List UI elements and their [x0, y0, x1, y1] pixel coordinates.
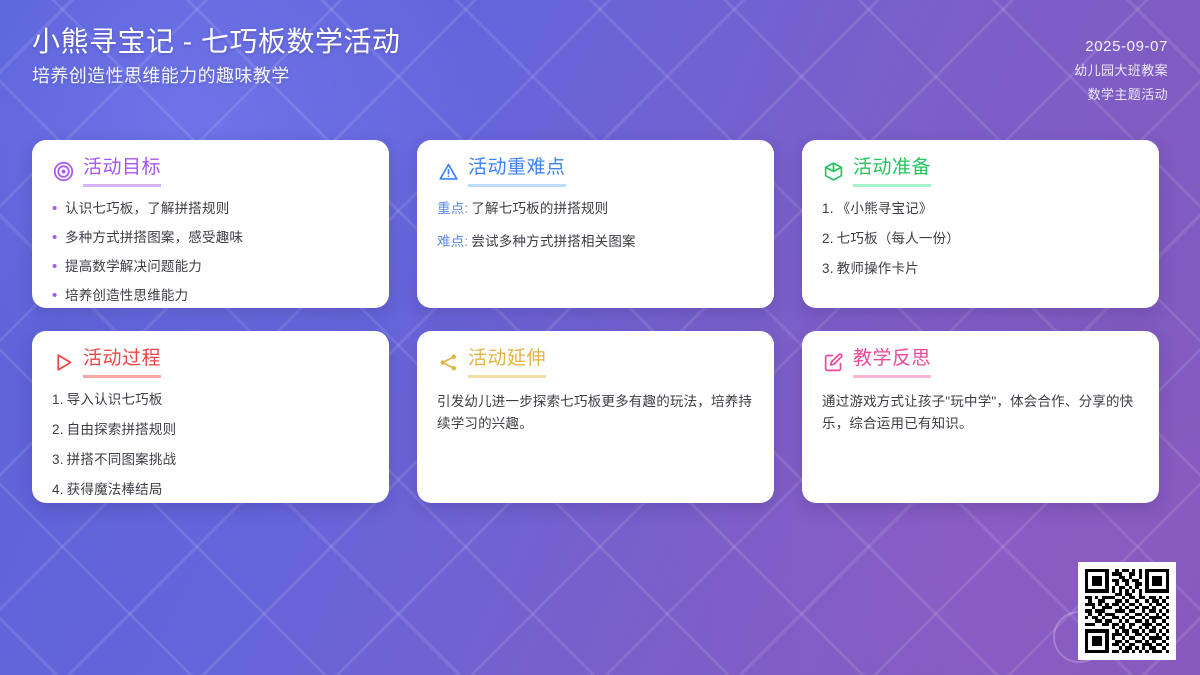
card-title: 活动延伸: [468, 348, 546, 378]
preparation-numbered-list: 1.《小熊寻宝记》 2.七巧板（每人一份） 3.教师操作卡片: [822, 200, 1139, 279]
card-activity-process: 活动过程 1.导入认识七巧板 2.自由探索拼搭规则 3.拼搭不同图案挑战 4.获…: [32, 331, 389, 503]
keypoint-label: 难点:: [437, 234, 468, 249]
item-text: 拼搭不同图案挑战: [67, 452, 177, 467]
item-number: 1.: [822, 201, 834, 216]
card-title: 活动目标: [83, 157, 161, 187]
card-header: 活动延伸: [437, 348, 754, 378]
card-title: 活动准备: [853, 157, 931, 187]
card-activity-goals: 活动目标 认识七巧板，了解拼搭规则 多种方式拼搭图案，感受趣味 提高数学解决问题…: [32, 140, 389, 308]
card-title: 活动过程: [83, 348, 161, 378]
keypoint-value: 了解七巧板的拼搭规则: [471, 201, 608, 216]
header-meta: 2025-09-07 幼儿园大班教案 数学主题活动: [1074, 26, 1168, 103]
target-icon: [52, 161, 74, 183]
keypoint-label: 重点:: [437, 201, 468, 216]
card-header: 活动过程: [52, 348, 369, 378]
edit-square-icon: [822, 352, 844, 374]
header-meta-line2: 数学主题活动: [1088, 84, 1168, 103]
card-teaching-reflection: 教学反思 通过游戏方式让孩子"玩中学"，体会合作、分享的快乐，综合运用已有知识。: [802, 331, 1159, 503]
card-header: 教学反思: [822, 348, 1139, 378]
goals-bullet-list: 认识七巧板，了解拼搭规则 多种方式拼搭图案，感受趣味 提高数学解决问题能力 培养…: [52, 200, 369, 306]
list-item: 3.教师操作卡片: [822, 260, 1139, 278]
item-text: 导入认识七巧板: [67, 392, 163, 407]
process-numbered-list: 1.导入认识七巧板 2.自由探索拼搭规则 3.拼搭不同图案挑战 4.获得魔法棒结…: [52, 391, 369, 500]
card-header: 活动目标: [52, 157, 369, 187]
card-header: 活动准备: [822, 157, 1139, 187]
item-text: 七巧板（每人一份）: [837, 231, 960, 246]
qr-code-matrix: [1085, 569, 1169, 653]
card-key-difficulties: 活动重难点 重点:了解七巧板的拼搭规则 难点:尝试多种方式拼搭相关图案: [417, 140, 774, 308]
list-item: 2.自由探索拼搭规则: [52, 421, 369, 439]
item-text: 《小熊寻宝记》: [837, 201, 933, 216]
item-text: 教师操作卡片: [837, 261, 919, 276]
item-number: 2.: [52, 422, 64, 437]
play-triangle-icon: [52, 352, 74, 374]
list-item: 培养创造性思维能力: [52, 287, 369, 305]
list-item: 多种方式拼搭图案，感受趣味: [52, 229, 369, 247]
item-number: 3.: [52, 452, 64, 467]
item-number: 1.: [52, 392, 64, 407]
header-date: 2025-09-07: [1085, 38, 1168, 55]
page-title: 小熊寻宝记 - 七巧板数学活动: [32, 26, 400, 57]
qr-code-icon[interactable]: [1078, 562, 1176, 660]
list-item: 4.获得魔法棒结局: [52, 481, 369, 499]
card-header: 活动重难点: [437, 157, 754, 187]
card-grid: 活动目标 认识七巧板，了解拼搭规则 多种方式拼搭图案，感受趣味 提高数学解决问题…: [32, 140, 1168, 503]
item-number: 4.: [52, 482, 64, 497]
list-item: 2.七巧板（每人一份）: [822, 230, 1139, 248]
page-subtitle: 培养创造性思维能力的趣味教学: [32, 66, 400, 88]
keypoint-value: 尝试多种方式拼搭相关图案: [471, 234, 635, 249]
list-item: 认识七巧板，了解拼搭规则: [52, 200, 369, 218]
list-item: 提高数学解决问题能力: [52, 258, 369, 276]
list-item: 1.《小熊寻宝记》: [822, 200, 1139, 218]
extension-text: 引发幼儿进一步探索七巧板更多有趣的玩法，培养持续学习的兴趣。: [437, 391, 754, 435]
keypoint-row-zhongdian: 重点:了解七巧板的拼搭规则: [437, 200, 754, 218]
keypoint-row-nandian: 难点:尝试多种方式拼搭相关图案: [437, 233, 754, 251]
share-nodes-icon: [437, 352, 459, 374]
card-preparation: 活动准备 1.《小熊寻宝记》 2.七巧板（每人一份） 3.教师操作卡片: [802, 140, 1159, 308]
list-item: 1.导入认识七巧板: [52, 391, 369, 409]
item-text: 获得魔法棒结局: [67, 482, 163, 497]
item-number: 3.: [822, 261, 834, 276]
header-titles: 小熊寻宝记 - 七巧板数学活动 培养创造性思维能力的趣味教学: [32, 26, 400, 88]
header-meta-line1: 幼儿园大班教案: [1074, 60, 1168, 79]
box-icon: [822, 161, 844, 183]
card-activity-extension: 活动延伸 引发幼儿进一步探索七巧板更多有趣的玩法，培养持续学习的兴趣。: [417, 331, 774, 503]
item-text: 自由探索拼搭规则: [67, 422, 177, 437]
page-header: 小熊寻宝记 - 七巧板数学活动 培养创造性思维能力的趣味教学 2025-09-0…: [0, 0, 1200, 128]
reflection-text: 通过游戏方式让孩子"玩中学"，体会合作、分享的快乐，综合运用已有知识。: [822, 391, 1139, 435]
card-title: 活动重难点: [468, 157, 566, 187]
card-title: 教学反思: [853, 348, 931, 378]
item-number: 2.: [822, 231, 834, 246]
warning-triangle-icon: [437, 161, 459, 183]
list-item: 3.拼搭不同图案挑战: [52, 451, 369, 469]
